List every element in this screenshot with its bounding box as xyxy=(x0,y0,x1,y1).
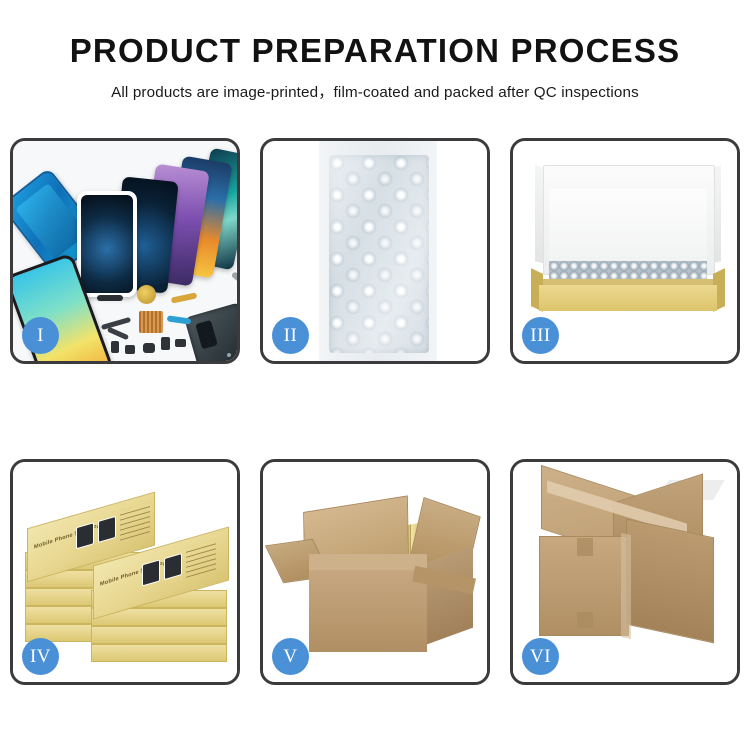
screw-1 xyxy=(227,353,231,357)
chip-component xyxy=(139,311,163,333)
box-spec-lines-1 xyxy=(120,502,150,541)
screw-2 xyxy=(235,359,237,361)
carton-right-face xyxy=(427,546,473,645)
step-badge-6: VI xyxy=(522,638,559,675)
process-step-6[interactable]: VI xyxy=(510,459,740,685)
box-art-screen-4 xyxy=(164,553,182,580)
spare-parts-group xyxy=(97,287,237,361)
step-badge-1: I xyxy=(22,317,59,354)
process-step-1[interactable]: I xyxy=(10,138,240,364)
page-header: PRODUCT PREPARATION PROCESS All products… xyxy=(0,0,750,102)
speaker-coil xyxy=(137,285,156,304)
process-step-3[interactable]: III xyxy=(510,138,740,364)
carton-tab-lower xyxy=(577,612,593,628)
step-badge-5: V xyxy=(272,638,309,675)
earpiece-bar xyxy=(97,295,123,301)
small-part-a xyxy=(111,341,119,353)
step-badge-4: IV xyxy=(22,638,59,675)
mailer-box-front xyxy=(539,285,717,311)
flex-cable-2 xyxy=(107,327,129,341)
repair-tool xyxy=(231,271,237,297)
small-part-c xyxy=(143,343,155,353)
carton-front-face xyxy=(309,570,427,652)
step-badge-3: III xyxy=(522,317,559,354)
process-step-4[interactable]: Mobile Phone Spare Parts Mobile Phone Sp… xyxy=(10,459,240,685)
sealed-carton-side-face xyxy=(626,519,714,644)
process-step-grid: I II III xyxy=(10,138,740,685)
box-brand-label-2: Mobile Phone Spare Parts xyxy=(100,558,174,588)
page-subtitle: All products are image-printed，film-coat… xyxy=(0,80,750,102)
process-step-2[interactable]: II xyxy=(260,138,490,364)
small-part-e xyxy=(175,339,186,347)
foam-liner xyxy=(549,189,707,267)
box-art-screen-3 xyxy=(142,559,160,586)
phone-glass-protector xyxy=(77,191,137,297)
box-art-screen-1 xyxy=(76,522,94,549)
carton-tab-upper xyxy=(577,538,593,556)
flex-cable-3 xyxy=(171,292,198,303)
packing-tape-seam xyxy=(621,533,631,639)
stack-box-r3 xyxy=(91,626,227,644)
process-step-5[interactable]: V xyxy=(260,459,490,685)
step-badge-2: II xyxy=(272,317,309,354)
stack-box-r4 xyxy=(91,644,227,662)
box-spec-lines-2 xyxy=(186,539,216,578)
box-brand-label-1: Mobile Phone Spare Parts xyxy=(34,521,108,551)
plastic-sheen xyxy=(329,155,429,353)
flex-cable-1 xyxy=(101,317,131,330)
small-part-d xyxy=(161,337,170,350)
box-art-screen-2 xyxy=(98,516,116,543)
page-title: PRODUCT PREPARATION PROCESS xyxy=(0,34,750,67)
small-part-b xyxy=(125,345,135,354)
